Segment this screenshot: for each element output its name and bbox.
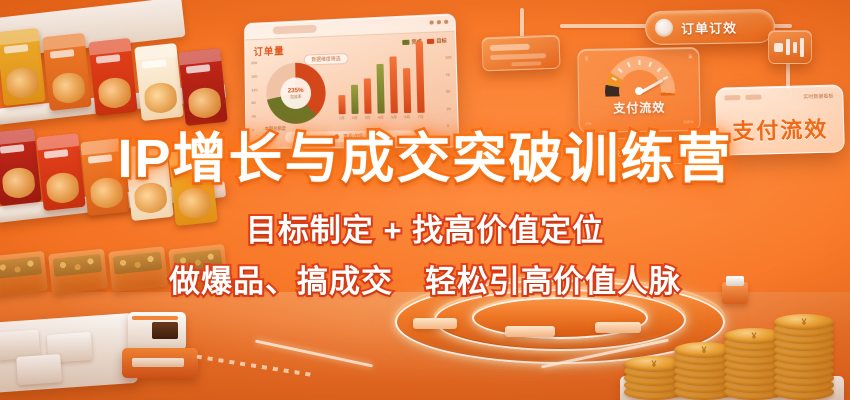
y-tick: 120 xyxy=(251,87,257,92)
widget-bar-icon xyxy=(800,38,804,57)
snack-package xyxy=(134,43,184,121)
menu-icon[interactable] xyxy=(437,20,441,24)
tag-line xyxy=(490,44,530,51)
gauge-label: 支付流效 xyxy=(579,98,699,117)
pos-strip xyxy=(132,316,178,320)
bar-label: 3月 xyxy=(365,116,371,121)
chart-y-axis: 200 160 120 80 40 0 xyxy=(251,60,258,132)
window-controls[interactable] xyxy=(429,20,448,25)
axis-tick: 0 xyxy=(447,124,453,128)
widget-bar-icon xyxy=(786,39,790,55)
y-tick: 80 xyxy=(251,100,257,105)
donut-chart[interactable]: 235% 完成率 xyxy=(266,62,326,124)
badge-dot-icon xyxy=(655,19,673,37)
order-efficiency-badge[interactable]: 订单订效 xyxy=(645,9,776,45)
snack-package xyxy=(178,48,228,126)
page-title: IP增长与成交突破训练营 xyxy=(0,132,850,186)
axis-tick: 75 xyxy=(446,72,452,76)
axis-tick: 100 xyxy=(445,56,451,60)
axis-tick: 50 xyxy=(446,90,452,94)
snack-package xyxy=(88,38,138,116)
product-tray xyxy=(0,313,138,393)
gauge-corner-label: 100% xyxy=(683,119,693,124)
card-header-lines xyxy=(724,94,761,100)
subtitle-line-1: 目标制定 + 找高价值定位 xyxy=(0,205,850,250)
podium-pad xyxy=(413,318,457,329)
widget-bar-icon xyxy=(793,42,797,53)
bar-chart[interactable]: 1月 2月 3月 4月 5月 6月 7月 xyxy=(336,41,447,121)
coin-stacks xyxy=(616,296,844,400)
y-tick: 200 xyxy=(251,60,257,65)
y-tick: 40 xyxy=(252,114,258,119)
bar-label: 5月 xyxy=(391,115,397,120)
chart-secondary-axis: 100 75 50 25 0 xyxy=(445,56,453,128)
bar-column: 5月 xyxy=(388,56,398,120)
gauge-corner-label: 高 xyxy=(688,54,692,60)
snack-package xyxy=(42,33,92,111)
bar-label: 2月 xyxy=(352,116,358,121)
bar-column: 3月 xyxy=(363,78,372,120)
snack-package xyxy=(0,28,46,106)
bar-column: 1月 xyxy=(337,95,345,121)
widget-square-icon xyxy=(774,43,783,52)
y-tick: 160 xyxy=(251,74,257,79)
close-icon[interactable] xyxy=(444,20,448,24)
donut-sublabel: 完成率 xyxy=(290,94,302,100)
gauge-dial xyxy=(604,55,675,96)
banner-stage: 订单量 数据维度筛选 完成 目标 200 160 120 80 40 0 235… xyxy=(0,0,850,400)
mini-metric-widget[interactable] xyxy=(768,30,812,64)
axis-tick: 25 xyxy=(446,107,452,111)
titlebar-chip xyxy=(273,25,317,35)
gauge-corner-label: 0% xyxy=(586,121,592,126)
bar-label: 1月 xyxy=(339,116,345,121)
podium-pad xyxy=(505,326,555,337)
pos-terminal-device xyxy=(122,312,198,378)
badge-label: 订单订效 xyxy=(681,17,737,37)
payment-efficiency-gauge-panel[interactable]: 低 高 0% 100% 支付流效 xyxy=(577,47,700,133)
back-icon[interactable] xyxy=(429,20,433,24)
pos-slot xyxy=(132,358,184,367)
pos-screen-unit xyxy=(128,312,186,350)
tag-line xyxy=(511,61,541,66)
bar-column: 7月 xyxy=(415,41,425,120)
data-tag-card[interactable] xyxy=(481,35,560,72)
bar-column: 6月 xyxy=(402,68,412,120)
tag-line xyxy=(490,53,546,60)
gauge-needle xyxy=(639,91,640,92)
coin-stack xyxy=(774,310,834,400)
bar-label: 6月 xyxy=(404,115,410,120)
dashboard-title: 订单量 xyxy=(254,43,285,59)
tray-box xyxy=(16,354,62,385)
gauge-corner-label: 低 xyxy=(584,56,588,62)
bar-label: 4月 xyxy=(378,115,384,120)
pos-display xyxy=(152,322,178,339)
connector-wire xyxy=(560,24,652,28)
card-subtitle: 实时数据看板 xyxy=(803,93,833,101)
bar-column: 4月 xyxy=(375,64,384,121)
bar-label: 7月 xyxy=(418,115,424,120)
pos-base xyxy=(122,348,198,378)
bar-column: 2月 xyxy=(350,85,359,121)
subtitle-line-2: 做爆品、搞成交 轻松引高价值人脉 xyxy=(0,256,850,301)
